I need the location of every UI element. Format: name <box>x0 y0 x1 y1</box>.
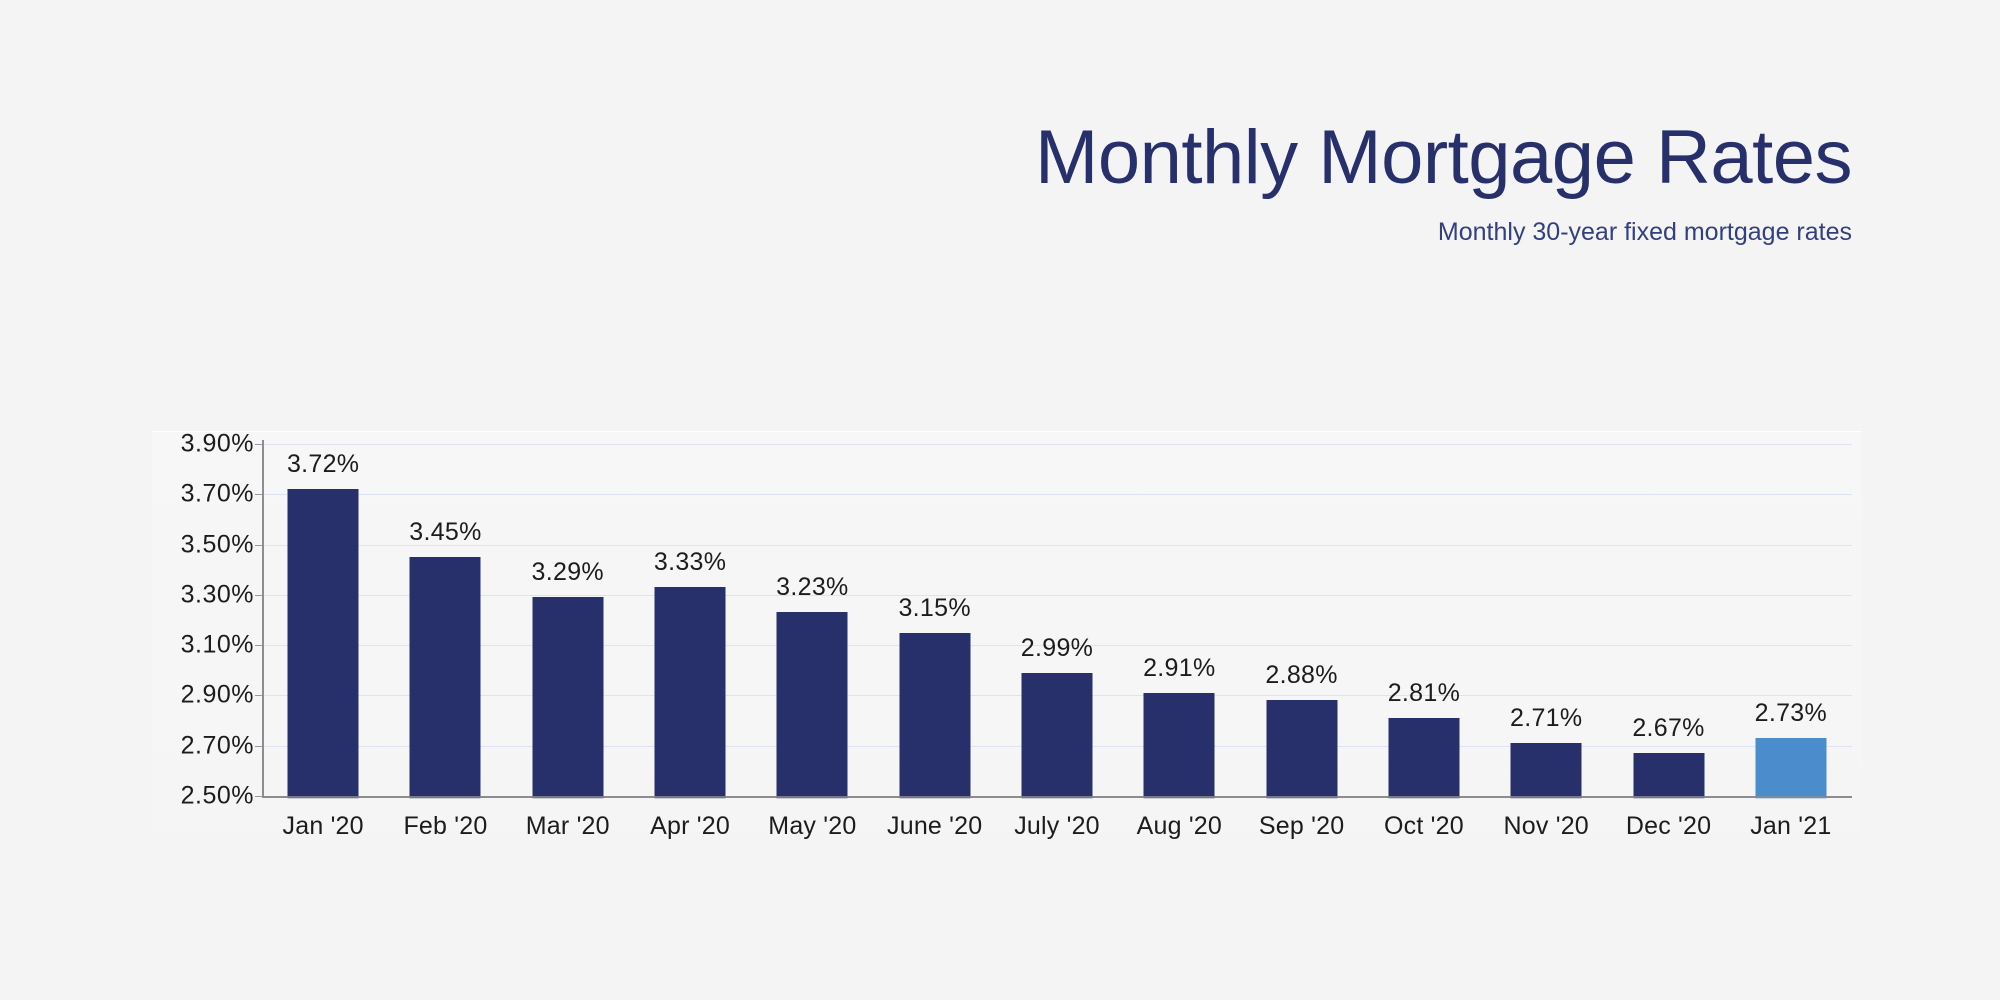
bar[interactable] <box>777 612 848 796</box>
bar-slot: 3.15% <box>874 444 996 796</box>
y-axis-tick-label: 2.50% <box>154 782 254 811</box>
bar-slot: 2.99% <box>996 444 1118 796</box>
x-axis-tick-label: June '20 <box>887 812 982 841</box>
bar-slot: 3.23% <box>751 444 873 796</box>
bar-value-label: 3.15% <box>898 594 970 623</box>
y-axis-tick-mark <box>255 796 262 797</box>
chart-subtitle: Monthly 30-year fixed mortgage rates <box>0 198 1852 247</box>
x-axis-tick-label: Oct '20 <box>1384 812 1464 841</box>
bar-value-label: 2.73% <box>1755 699 1827 728</box>
chart-canvas: Monthly Mortgage Rates Monthly 30-year f… <box>0 0 2000 1000</box>
page-title: Monthly Mortgage Rates <box>0 118 1852 198</box>
bar-value-label: 2.88% <box>1265 661 1337 690</box>
bar[interactable] <box>1021 673 1092 796</box>
bar[interactable] <box>1388 718 1459 796</box>
x-axis-tick-label: Nov '20 <box>1504 812 1589 841</box>
y-axis-tick-mark <box>255 494 262 495</box>
bar-value-label: 3.72% <box>287 450 359 479</box>
bar-value-label: 2.81% <box>1388 679 1460 708</box>
bar[interactable] <box>288 489 359 796</box>
bar-value-label: 2.91% <box>1143 654 1215 683</box>
y-axis-tick-label: 3.10% <box>154 631 254 660</box>
bar-slot: 2.67% <box>1607 444 1729 796</box>
x-axis-tick-label: Feb '20 <box>403 812 487 841</box>
y-axis-tick-mark <box>255 595 262 596</box>
y-axis-tick-label: 3.90% <box>154 430 254 459</box>
bar-slot: 3.29% <box>507 444 629 796</box>
bar[interactable] <box>655 587 726 796</box>
bar-slot: 2.81% <box>1363 444 1485 796</box>
bar-slot: 2.91% <box>1118 444 1240 796</box>
y-axis-tick-labels: 3.90%3.70%3.50%3.30%3.10%2.90%2.70%2.50% <box>150 444 254 796</box>
bar[interactable] <box>1266 700 1337 796</box>
x-axis-tick-label: Jan '21 <box>1750 812 1831 841</box>
bar-value-label: 2.71% <box>1510 704 1582 733</box>
y-axis-tick-mark <box>255 545 262 546</box>
x-axis-tick-labels: Jan '20Feb '20Mar '20Apr '20May '20June … <box>262 812 1852 852</box>
bar[interactable] <box>1633 753 1704 796</box>
bar-slot: 3.45% <box>384 444 506 796</box>
x-axis-tick-label: Apr '20 <box>650 812 730 841</box>
y-axis-tick-label: 2.90% <box>154 681 254 710</box>
bar-slot: 3.33% <box>629 444 751 796</box>
x-axis-tick-label: Aug '20 <box>1137 812 1222 841</box>
bar[interactable] <box>1755 738 1826 796</box>
bar-value-label: 3.45% <box>409 518 481 547</box>
y-axis-tick-label: 2.70% <box>154 731 254 760</box>
bar-slot: 3.72% <box>262 444 384 796</box>
bar[interactable] <box>1144 693 1215 796</box>
chart-header: Monthly Mortgage Rates Monthly 30-year f… <box>0 118 1852 247</box>
bar[interactable] <box>410 557 481 796</box>
bar-slot: 2.73% <box>1730 444 1852 796</box>
x-axis-tick-label: Sep '20 <box>1259 812 1344 841</box>
bar-slot: 2.71% <box>1485 444 1607 796</box>
y-axis-tick-label: 3.70% <box>154 480 254 509</box>
bar[interactable] <box>1511 743 1582 796</box>
y-axis-tick-mark <box>255 695 262 696</box>
y-axis-tick-mark <box>255 645 262 646</box>
x-axis-tick-label: July '20 <box>1014 812 1100 841</box>
bars-group: 3.72%3.45%3.29%3.33%3.23%3.15%2.99%2.91%… <box>262 444 1852 796</box>
x-axis-line <box>262 796 1852 798</box>
bar-value-label: 3.23% <box>776 573 848 602</box>
bar[interactable] <box>532 597 603 796</box>
y-axis-tick-mark <box>255 746 262 747</box>
x-axis-tick-label: Mar '20 <box>526 812 610 841</box>
bar-value-label: 2.99% <box>1021 634 1093 663</box>
bar-value-label: 3.29% <box>532 558 604 587</box>
x-axis-tick-label: May '20 <box>768 812 856 841</box>
bar[interactable] <box>899 633 970 796</box>
x-axis-tick-label: Jan '20 <box>283 812 364 841</box>
bar-value-label: 3.33% <box>654 548 726 577</box>
x-axis-tick-label: Dec '20 <box>1626 812 1711 841</box>
y-axis-tick-mark <box>255 444 262 445</box>
y-axis-tick-label: 3.50% <box>154 530 254 559</box>
bar-slot: 2.88% <box>1240 444 1362 796</box>
y-axis-tick-label: 3.30% <box>154 580 254 609</box>
bar-value-label: 2.67% <box>1632 714 1704 743</box>
